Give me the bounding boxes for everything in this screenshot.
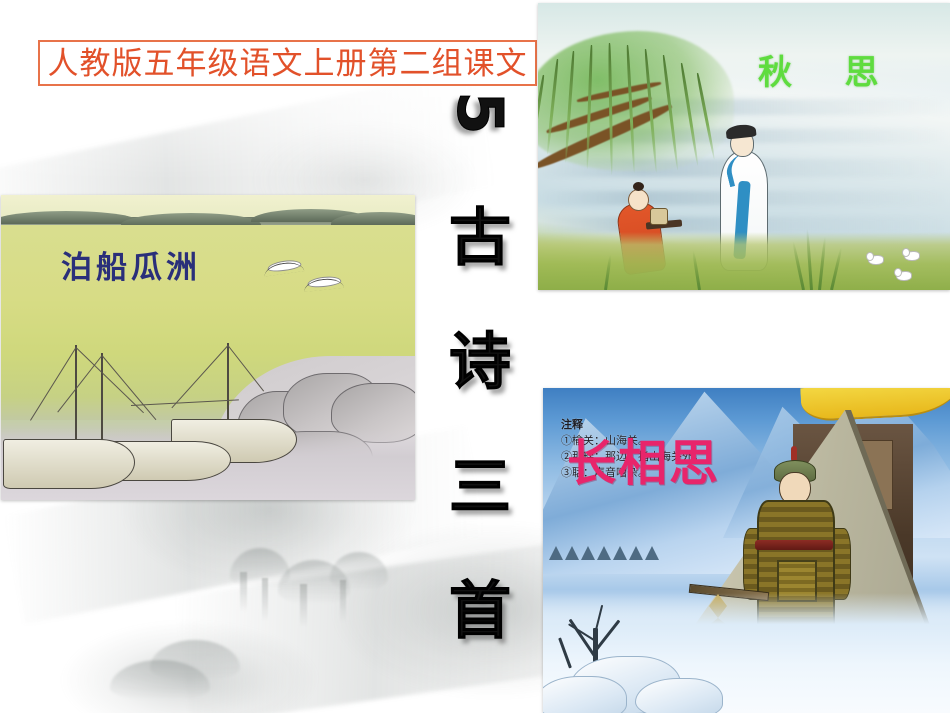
vertical-title-char-3: 三 — [449, 456, 511, 518]
xiangsi-banner — [800, 388, 950, 422]
xiangsi-soldier-belt — [755, 540, 833, 550]
qiusi-cup — [650, 208, 668, 225]
picture-qiusi[interactable]: 秋 思 — [538, 3, 950, 290]
qiusi-duck — [868, 255, 884, 265]
slide-canvas: 人教版五年级语文上册第二组课文 5 古 诗 三 首 — [0, 0, 950, 713]
picture-caption-qiusi: 秋 思 — [758, 45, 901, 94]
wash-pine — [150, 640, 240, 680]
vertical-title: 5 古 诗 三 首 — [432, 82, 528, 642]
wash-trunk — [240, 572, 247, 612]
wash-trunk — [300, 584, 307, 628]
picture-bochuan-guazhou[interactable]: 泊船瓜洲 — [1, 195, 415, 500]
wash-pine — [230, 548, 290, 588]
qiusi-grass-bank — [538, 232, 950, 290]
xiangsi-twig — [593, 605, 603, 638]
xiangsi-snow-rock — [543, 676, 627, 713]
wash-trunk — [262, 578, 268, 622]
xiangsi-palisade — [549, 538, 669, 560]
bochuan-boat — [3, 439, 135, 489]
qiusi-duck — [896, 271, 912, 281]
vertical-title-char-4: 首 — [449, 580, 511, 642]
wash-trunk — [340, 580, 346, 622]
picture-caption-bochuan: 泊船瓜洲 — [61, 242, 201, 287]
xiangsi-twig — [558, 637, 572, 668]
vertical-title-char-1: 古 — [449, 207, 511, 269]
wash-pine — [278, 560, 350, 604]
lesson-heading-box: 人教版五年级语文上册第二组课文 — [38, 40, 537, 86]
vertical-title-char-2: 诗 — [449, 331, 511, 393]
wash-pine — [330, 552, 388, 590]
qiusi-servant-head — [628, 189, 649, 211]
lesson-heading-text: 人教版五年级语文上册第二组课文 — [48, 48, 528, 79]
wash-blob — [60, 620, 320, 713]
xiangsi-snow-rock — [635, 678, 723, 713]
qiusi-duck — [904, 251, 920, 261]
wash-pine — [110, 660, 210, 700]
picture-caption-changxiangsi: 长相思 — [567, 424, 720, 495]
lesson-number: 5 — [449, 91, 511, 134]
picture-changxiangsi[interactable]: 注释 ①榆关：山海关。 ②那畔：那边，指山海关外。 ③聒：声音嘈杂。 长相思 — [543, 388, 950, 713]
qiusi-servant-bun — [633, 182, 644, 191]
